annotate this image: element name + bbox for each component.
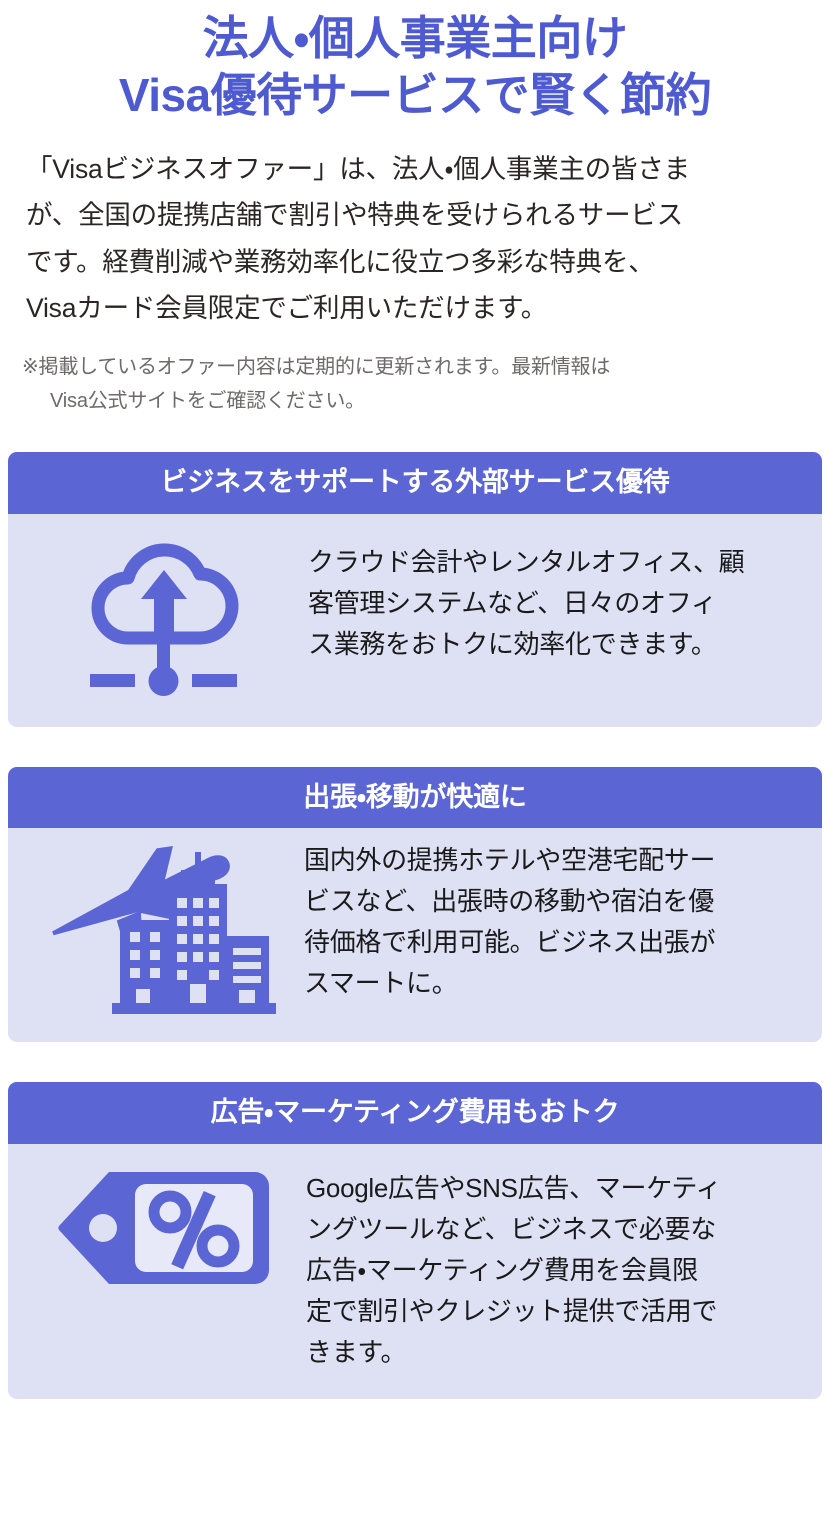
- promo-page: 法人・個人事業主向け Visa優待サービスで賢く節約 「Visaビジネスオファー…: [0, 0, 830, 1530]
- card-header-advertising-marketing: 広告・マーケティング費用もおトク: [8, 1082, 822, 1143]
- card3-line-3: 広告・マーケティング費用を会員限: [306, 1250, 804, 1291]
- card3-line-2: ングツールなど、ビジネスで必要な: [306, 1209, 804, 1250]
- card-text-business-travel: 国内外の提携ホテルや空港宅配サー ビスなど、出張時の移動や宿泊を優 待価格で利用…: [304, 840, 804, 1004]
- lead-paragraph: 「Visaビジネスオファー」は、法人・個人事業主の皆さま が、全国の提携店舗で割…: [0, 146, 830, 332]
- lead-line-4: Visaカード会員限定でご利用いただけます。: [26, 285, 804, 331]
- card-body-advertising-marketing: Google広告やSNS広告、マーケティ ングツールなど、ビジネスで必要な 広告…: [8, 1144, 822, 1399]
- card-header-external-services: ビジネスをサポートする外部サービス優待: [8, 452, 822, 513]
- card-body-external-services: クラウド会計やレンタルオフィス、顧 客管理システムなど、日々のオフィ ス業務をお…: [8, 514, 822, 727]
- disclaimer-line-2: Visa公式サイトをご確認ください。: [42, 384, 804, 418]
- airplane-city-icon: [16, 840, 304, 1024]
- card3-line-1: Google広告やSNS広告、マーケティ: [306, 1168, 804, 1209]
- disclaimer-line-1: ※掲載しているオファー内容は定期的に更新されます。最新情報は: [42, 350, 804, 384]
- card2-line-3: 待価格で利用可能。ビジネス出張が: [304, 922, 804, 963]
- cloud-upload-icon: [18, 536, 308, 701]
- page-title: 法人・個人事業主向け Visa優待サービスで賢く節約: [0, 0, 830, 124]
- benefit-card-external-services: ビジネスをサポートする外部サービス優待: [8, 452, 822, 726]
- lead-line-2: が、全国の提携店舗で割引や特典を受けられるサービス: [26, 192, 804, 238]
- card1-line-1: クラウド会計やレンタルオフィス、顧: [308, 542, 802, 583]
- lead-line-3: です。経費削減や業務効率化に役立つ多彩な特典を、: [26, 239, 804, 285]
- card1-line-2: 客管理システムなど、日々のオフィ: [308, 583, 802, 624]
- card-text-external-services: クラウド会計やレンタルオフィス、顧 客管理システムなど、日々のオフィ ス業務をお…: [308, 536, 802, 665]
- card3-line-4: 定で割引やクレジット提供で活用で: [306, 1291, 804, 1332]
- card2-line-1: 国内外の提携ホテルや空港宅配サー: [304, 840, 804, 881]
- percent-tag-icon: [18, 1168, 306, 1288]
- page-title-line-1: 法人・個人事業主向け: [0, 10, 830, 67]
- card2-line-2: ビスなど、出張時の移動や宿泊を優: [304, 881, 804, 922]
- page-title-line-2: Visa優待サービスで賢く節約: [0, 67, 830, 124]
- card-header-business-travel: 出張・移動が快適に: [8, 767, 822, 828]
- disclaimer-note: ※掲載しているオファー内容は定期的に更新されます。最新情報は Visa公式サイト…: [0, 350, 830, 419]
- lead-line-1: 「Visaビジネスオファー」は、法人・個人事業主の皆さま: [26, 146, 804, 192]
- card2-line-4: スマートに。: [304, 963, 804, 1004]
- benefit-card-list: ビジネスをサポートする外部サービス優待: [0, 452, 830, 1399]
- card-text-advertising-marketing: Google広告やSNS広告、マーケティ ングツールなど、ビジネスで必要な 広告…: [306, 1168, 804, 1373]
- card3-line-5: きます。: [306, 1332, 804, 1373]
- card1-line-3: ス業務をおトクに効率化できます。: [308, 624, 802, 665]
- benefit-card-business-travel: 出張・移動が快適に: [8, 767, 822, 1042]
- benefit-card-advertising-marketing: 広告・マーケティング費用もおトク: [8, 1082, 822, 1399]
- card-body-business-travel: 国内外の提携ホテルや空港宅配サー ビスなど、出張時の移動や宿泊を優 待価格で利用…: [8, 828, 822, 1042]
